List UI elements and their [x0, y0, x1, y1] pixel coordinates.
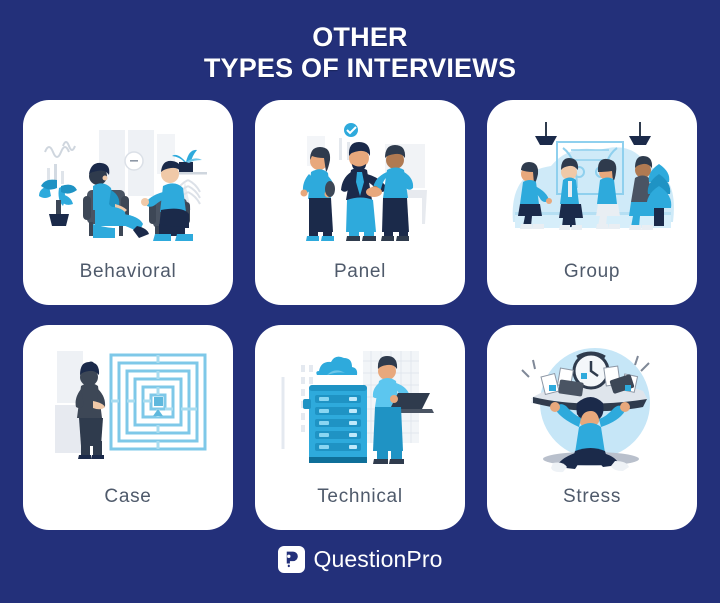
questionpro-p-mark-icon	[278, 546, 305, 573]
title-line-1: OTHER	[204, 22, 516, 53]
card-stress[interactable]: Stress	[487, 325, 697, 530]
brand-footer: QuestionPro	[278, 546, 443, 573]
three-people-handshake-icon	[267, 116, 453, 248]
page-title: OTHER TYPES OF INTERVIEWS	[204, 22, 516, 83]
interview-types-grid: Behavioral	[23, 100, 697, 530]
brand-name: QuestionPro	[314, 546, 443, 573]
card-label: Technical	[317, 486, 403, 508]
two-people-seated-chairs-icon	[35, 116, 221, 248]
card-panel[interactable]: Panel	[255, 100, 465, 305]
infographic-page: OTHER TYPES OF INTERVIEWS	[0, 0, 720, 603]
card-group[interactable]: Group	[487, 100, 697, 305]
four-people-bench-lamps-icon	[499, 116, 685, 248]
card-behavioral[interactable]: Behavioral	[23, 100, 233, 305]
card-label: Panel	[334, 261, 386, 283]
man-facing-maze-icon	[35, 341, 221, 473]
card-technical[interactable]: Technical	[255, 325, 465, 530]
card-label: Stress	[563, 486, 621, 508]
person-carrying-paperwork-pile-icon	[499, 341, 685, 473]
card-label: Case	[104, 486, 151, 508]
card-label: Behavioral	[80, 261, 177, 283]
server-rack-laptop-person-icon	[267, 341, 453, 473]
card-case[interactable]: Case	[23, 325, 233, 530]
card-label: Group	[564, 261, 620, 283]
title-line-2: TYPES OF INTERVIEWS	[204, 53, 516, 84]
